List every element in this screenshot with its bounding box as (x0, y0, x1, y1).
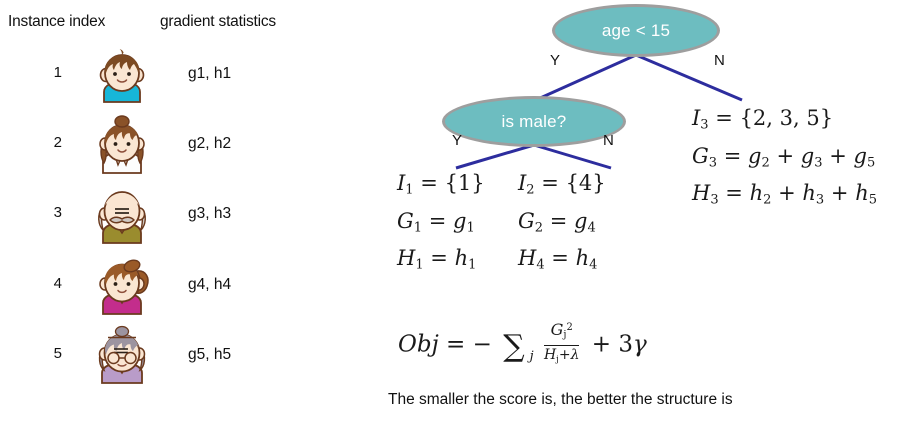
leaf-1-g-term-sub: 1 (467, 220, 475, 235)
leaf-2-H-sub: 4 (536, 258, 544, 273)
leaf-3-G: G (692, 144, 709, 168)
table-row: 3 g3, h3 (0, 183, 330, 251)
leaf-2-h-term-sub: 4 (589, 258, 597, 273)
fraction-numerator: Gj2 (544, 321, 580, 344)
girl-ponytail-avatar-icon (88, 253, 156, 315)
leaf-1-g: G1 = g1 (397, 206, 485, 244)
leaf-1-G-sub: 1 (414, 220, 422, 235)
row-index-label: 2 (38, 134, 62, 151)
decision-tree: age < 15 is male? Y N Y N I1 = {1} G1 = … (370, 0, 920, 421)
objective-minus: − (473, 331, 492, 357)
summation-symbol: ∑ j (503, 332, 524, 362)
objective-gamma: γ (633, 331, 647, 357)
leaf-3-h-terms: h2 + h3 + h5 (750, 181, 877, 205)
objective-formula: Obj = − ∑ j Gj2 Hj+λ + 3γ (398, 322, 647, 369)
row-gradient-label: g3, h3 (188, 205, 231, 223)
table-row: 5 (0, 322, 330, 390)
row-index-label: 1 (38, 64, 62, 81)
edge-label-male-yes: Y (452, 132, 462, 149)
diagram-canvas: Instance index gradient statistics 1 (0, 0, 920, 421)
leaf-3-g: G3 = g2 + g3 + g5 (692, 141, 877, 179)
caption-text: The smaller the score is, the better the… (388, 391, 733, 409)
row-gradient-label: g1, h1 (188, 65, 231, 83)
edge-label-male-no: N (603, 132, 614, 149)
row-gradient-label: g5, h5 (188, 346, 231, 364)
row-index-label: 3 (38, 204, 62, 221)
leaf-2-index-set: I2 = {4} (518, 168, 606, 206)
row-index-label: 5 (38, 345, 62, 362)
leaf-1-H: H (397, 246, 415, 270)
old-woman-avatar-icon (88, 322, 156, 384)
objective-fraction: Gj2 Hj+λ (544, 321, 580, 368)
leaf-3-H: H (692, 181, 710, 205)
leaf-3-g-terms: g2 + g3 + g5 (748, 144, 875, 168)
leaf-2-g-term-sub: 4 (588, 220, 596, 235)
girl-bun-avatar-icon (88, 113, 156, 175)
summation-index: j (530, 349, 534, 364)
leaf-2-g: G2 = g4 (518, 206, 606, 244)
leaf-2-h-term: h (576, 246, 590, 270)
leaf-1-I-sub: 1 (405, 183, 413, 198)
leaf-1-I-value: {1} (445, 171, 485, 195)
objective-penalty-count: 3 (618, 331, 633, 357)
leaf-3-G-sub: 3 (709, 155, 717, 170)
leaf-3-H-sub: 3 (710, 193, 718, 208)
table-row: 1 g1, h1 (0, 44, 330, 112)
table-row: 2 g2, h2 (0, 113, 330, 181)
objective-lhs: Obj (398, 331, 439, 357)
table-row: 4 g4, h4 (0, 253, 330, 321)
objective-equals: = (446, 331, 465, 357)
boy-avatar-icon (88, 44, 156, 106)
leaf-2-I-value: {4} (566, 171, 606, 195)
fraction-bar (544, 345, 580, 347)
leaf-3-index-set: I3 = {2, 3, 5} (692, 103, 877, 141)
column-header-instance-index: Instance index (8, 13, 105, 31)
leaf-1-g-term: g (453, 209, 466, 233)
leaf-1-H-sub: 1 (415, 258, 423, 273)
row-index-label: 4 (38, 275, 62, 292)
leaf-2-G-sub: 2 (535, 220, 543, 235)
leaf-3-I-value: {2, 3, 5} (740, 106, 834, 130)
fraction-denominator: Hj+λ (544, 347, 580, 367)
leaf-3-I-sub: 3 (700, 118, 708, 133)
leaf-2-h: H4 = h4 (518, 243, 606, 281)
leaf-2-g-term: g (574, 209, 587, 233)
leaf-1-stats: I1 = {1} G1 = g1 H1 = h1 (397, 168, 485, 281)
leaf-2-G: G (518, 209, 535, 233)
column-header-gradient-statistics: gradient statistics (160, 13, 276, 31)
leaf-2-stats: I2 = {4} G2 = g4 H4 = h4 (518, 168, 606, 281)
edge-label-root-no: N (714, 52, 725, 69)
leaf-2-H: H (518, 246, 536, 270)
row-gradient-label: g2, h2 (188, 135, 231, 153)
leaf-1-G: G (397, 209, 414, 233)
tree-node-is-male[interactable]: is male? (442, 96, 626, 147)
leaf-1-h: H1 = h1 (397, 243, 485, 281)
row-gradient-label: g4, h4 (188, 276, 231, 294)
leaf-1-h-term: h (455, 246, 469, 270)
objective-plus: + (592, 331, 611, 357)
leaf-1-index-set: I1 = {1} (397, 168, 485, 206)
leaf-3-stats: I3 = {2, 3, 5} G3 = g2 + g3 + g5 H3 = h2… (692, 103, 877, 216)
leaf-2-I-sub: 2 (526, 183, 534, 198)
edge-label-root-yes: Y (550, 52, 560, 69)
old-man-avatar-icon (88, 183, 156, 245)
leaf-1-h-term-sub: 1 (468, 258, 476, 273)
tree-node-root[interactable]: age < 15 (552, 4, 720, 57)
leaf-3-h: H3 = h2 + h3 + h5 (692, 178, 877, 216)
